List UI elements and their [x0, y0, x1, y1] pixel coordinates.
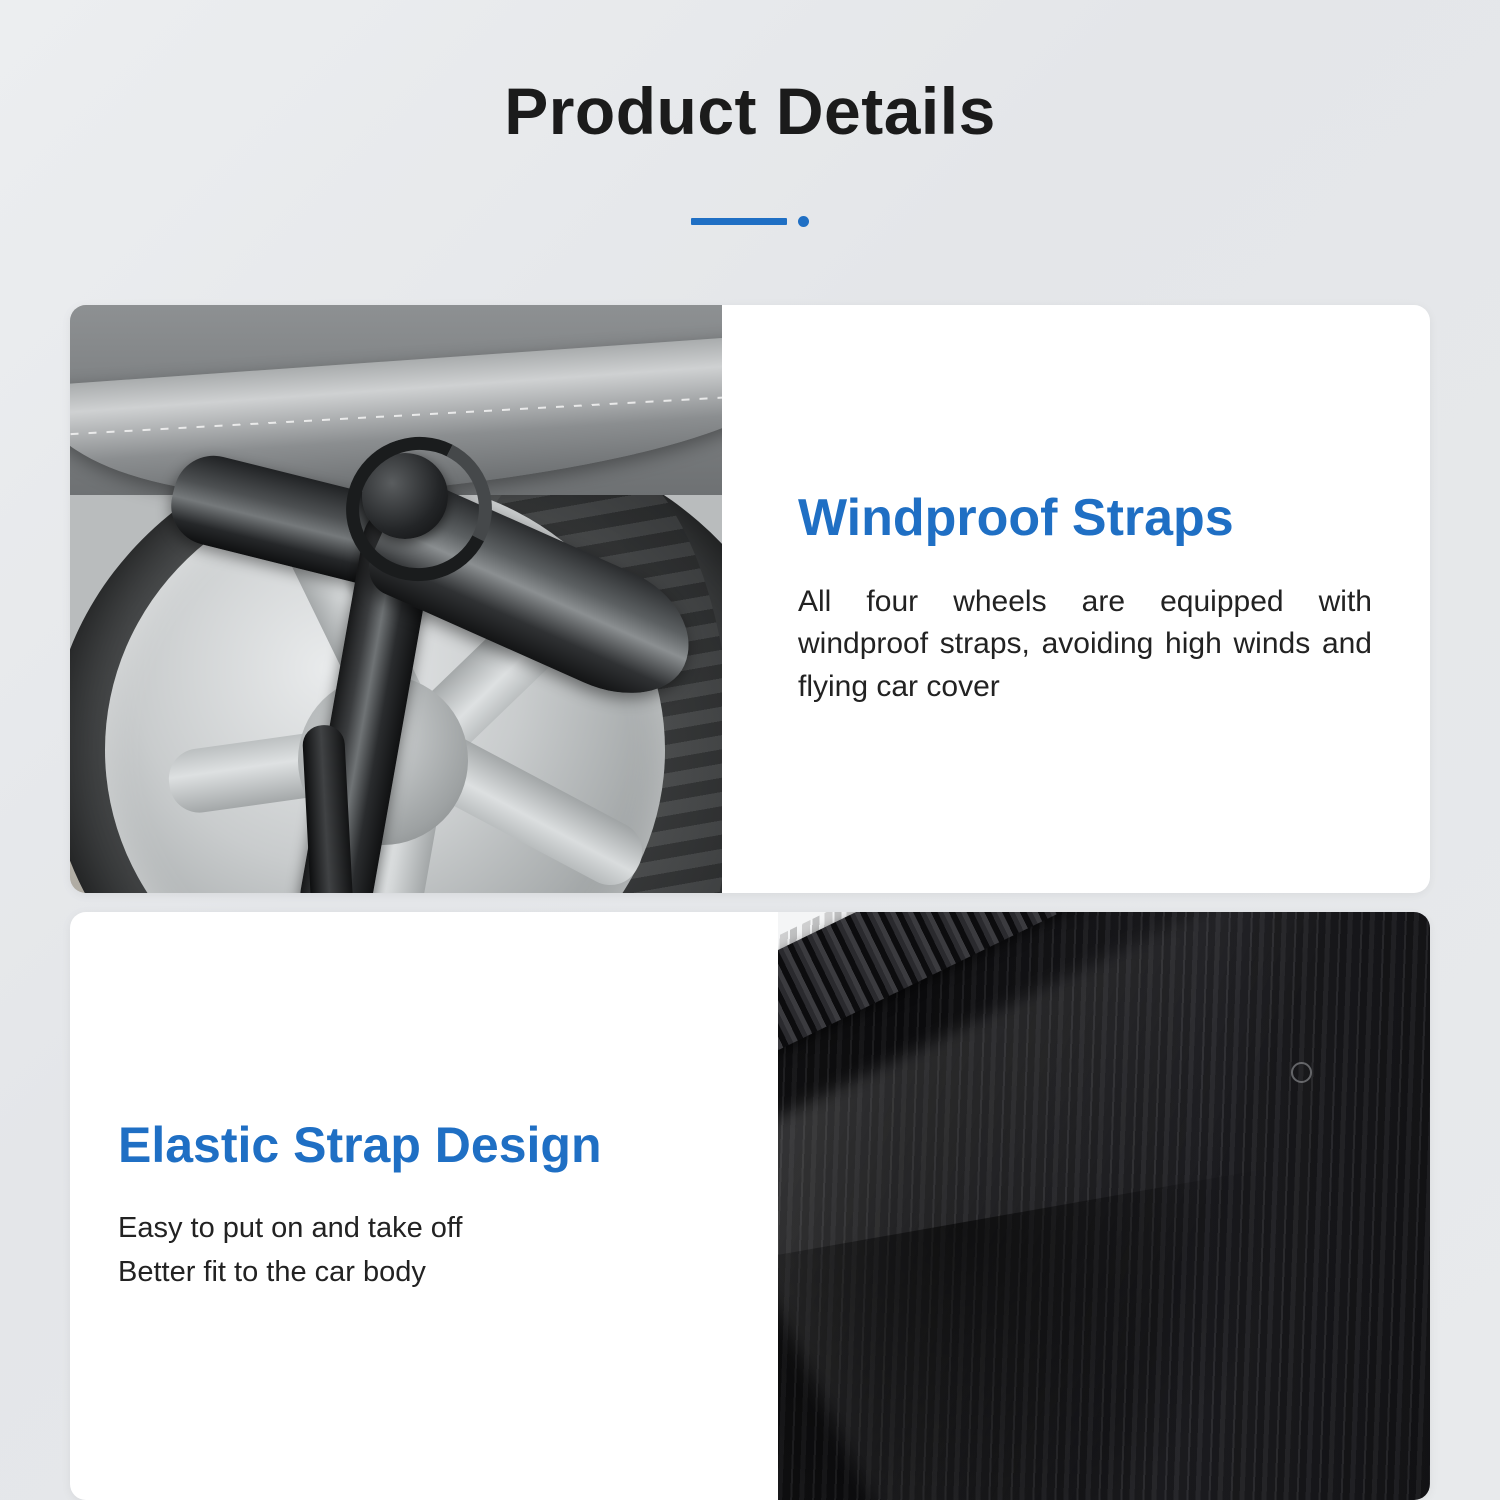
divider-bar-icon	[691, 218, 787, 225]
feature-body-elastic-strap-line-2: Better fit to the car body	[118, 1251, 708, 1295]
feature-card-windproof-straps: Windproof Straps All four wheels are equ…	[70, 305, 1430, 893]
feature-body-elastic-strap-line-1: Easy to put on and take off	[118, 1207, 708, 1251]
elastic-hem-photo	[778, 912, 1430, 1500]
feature-card-elastic-strap-design: Elastic Strap Design Easy to put on and …	[70, 912, 1430, 1500]
title-divider	[0, 216, 1500, 227]
fabric-grommet-icon	[1291, 1062, 1312, 1083]
feature-body-windproof-straps: All four wheels are equipped with windpr…	[798, 581, 1372, 709]
elastic-strap-text-pane: Elastic Strap Design Easy to put on and …	[70, 912, 778, 1500]
windproof-strap-photo	[70, 305, 722, 893]
feature-title-elastic-strap-design: Elastic Strap Design	[118, 1118, 708, 1173]
windproof-straps-text-pane: Windproof Straps All four wheels are equ…	[722, 305, 1430, 893]
divider-dot-icon	[798, 216, 809, 227]
page-title: Product Details	[0, 0, 1500, 144]
feature-title-windproof-straps: Windproof Straps	[798, 490, 1372, 547]
